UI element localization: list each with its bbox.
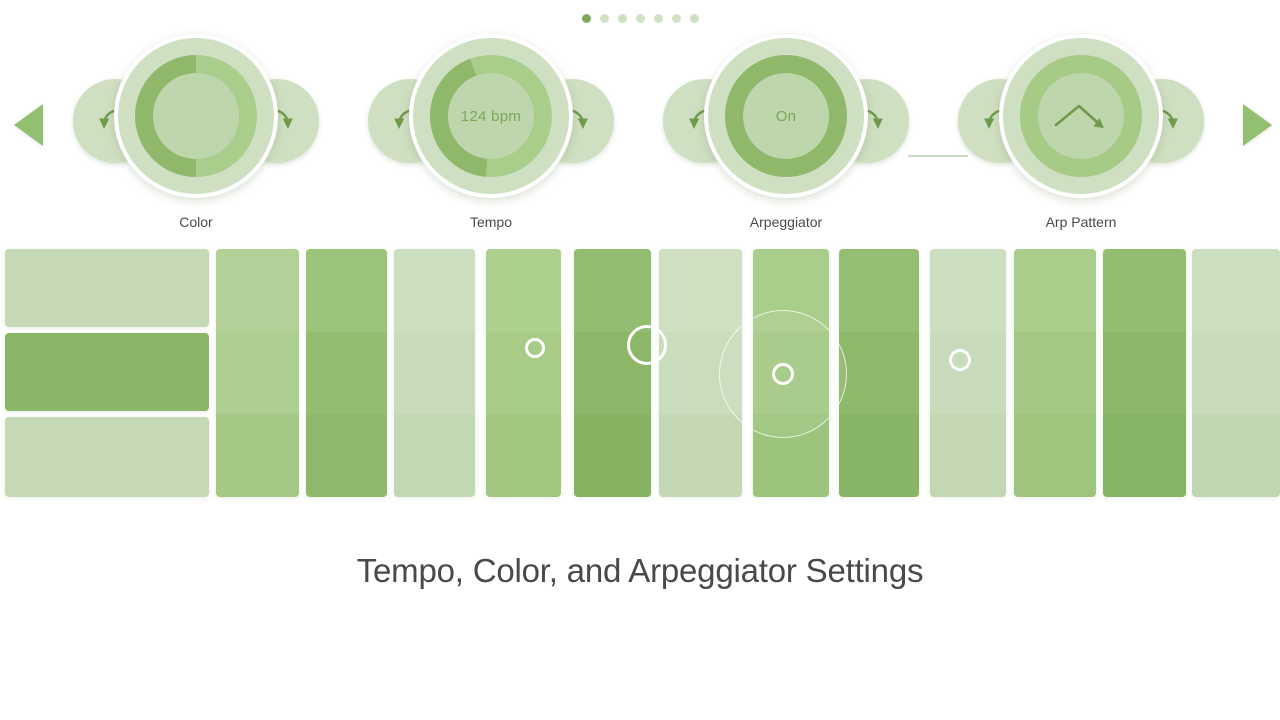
knob-label: Arp Pattern: [956, 214, 1206, 230]
knob-ring: 124 bpm: [430, 55, 552, 177]
color-strip-segment[interactable]: [486, 249, 561, 332]
color-strip-segment[interactable]: [574, 249, 651, 332]
color-strip[interactable]: [394, 249, 475, 497]
color-strip[interactable]: [930, 249, 1006, 497]
color-strip-segment[interactable]: [1014, 414, 1096, 497]
color-strip-segment[interactable]: [753, 414, 829, 497]
color-strip-segment[interactable]: [839, 414, 919, 497]
page-dot[interactable]: [636, 14, 645, 23]
color-strip-segment[interactable]: [306, 332, 387, 415]
knob-group-tempo: 124 bpmTempo: [366, 32, 616, 237]
color-strip-segment[interactable]: [216, 414, 299, 497]
color-strip-segment[interactable]: [659, 249, 742, 332]
knob-dial[interactable]: [999, 34, 1163, 198]
color-strip[interactable]: [839, 249, 919, 497]
bar-panel-row[interactable]: [5, 249, 209, 327]
color-strip[interactable]: [753, 249, 829, 497]
knob-dial[interactable]: 124 bpm: [409, 34, 573, 198]
knob-group-arp-pattern: Arp Pattern: [956, 32, 1206, 237]
color-strip[interactable]: [216, 249, 299, 497]
knob-ring: On: [725, 55, 847, 177]
color-strip-segment[interactable]: [930, 414, 1006, 497]
color-strip-segment[interactable]: [659, 414, 742, 497]
color-strip-segment[interactable]: [1192, 414, 1280, 497]
color-strip-segment[interactable]: [1103, 249, 1186, 332]
color-strip-segment[interactable]: [486, 332, 561, 415]
color-strip[interactable]: [486, 249, 561, 497]
color-strip-segment[interactable]: [1192, 332, 1280, 415]
knob-dial[interactable]: [114, 34, 278, 198]
color-strip-segment[interactable]: [1014, 249, 1096, 332]
color-strip-segment[interactable]: [753, 332, 829, 415]
color-strip-segment[interactable]: [1103, 414, 1186, 497]
knob-value: On: [776, 108, 797, 125]
color-strip-segment[interactable]: [839, 249, 919, 332]
knob-core: 124 bpm: [448, 73, 534, 159]
knob-group-arpeggiator: OnArpeggiator: [661, 32, 911, 237]
knob-label: Tempo: [366, 214, 616, 230]
color-strip-segment[interactable]: [216, 249, 299, 332]
knob-value: 124 bpm: [461, 108, 521, 125]
color-strip-segment[interactable]: [216, 332, 299, 415]
knob-dial[interactable]: On: [704, 34, 868, 198]
color-strip-segment[interactable]: [659, 332, 742, 415]
color-strip-segment[interactable]: [306, 249, 387, 332]
page-dot[interactable]: [582, 14, 591, 23]
knob-ring: [1020, 55, 1142, 177]
color-strip[interactable]: [1192, 249, 1280, 497]
knob-stage: On: [661, 32, 911, 216]
color-strip-segment[interactable]: [1103, 332, 1186, 415]
knob-core: [153, 73, 239, 159]
page-dot[interactable]: [618, 14, 627, 23]
page-dot[interactable]: [672, 14, 681, 23]
bar-panel[interactable]: [5, 249, 209, 497]
knob-stage: 124 bpm: [366, 32, 616, 216]
color-strip[interactable]: [574, 249, 651, 497]
page-title: Tempo, Color, and Arpeggiator Settings: [0, 552, 1280, 590]
bar-panel-row[interactable]: [5, 333, 209, 411]
knob-row: Color124 bpmTempoOnArpeggiatorArp Patter…: [0, 32, 1280, 237]
knob-stage: [71, 32, 321, 216]
knob-core: On: [743, 73, 829, 159]
knob-ring: [135, 55, 257, 177]
page-indicator[interactable]: [0, 14, 1280, 23]
color-strip-segment[interactable]: [574, 332, 651, 415]
color-strip-segment[interactable]: [1014, 332, 1096, 415]
knob-group-color: Color: [71, 32, 321, 237]
color-strip-grid[interactable]: [0, 249, 1280, 497]
color-strip-segment[interactable]: [839, 332, 919, 415]
bar-panel-row[interactable]: [5, 417, 209, 497]
color-strip[interactable]: [306, 249, 387, 497]
page-dot[interactable]: [690, 14, 699, 23]
color-strip-segment[interactable]: [753, 249, 829, 332]
color-strip-segment[interactable]: [394, 332, 475, 415]
color-strip[interactable]: [659, 249, 742, 497]
color-strip-segment[interactable]: [574, 414, 651, 497]
page-dot[interactable]: [654, 14, 663, 23]
color-strip-segment[interactable]: [486, 414, 561, 497]
color-strip[interactable]: [1103, 249, 1186, 497]
color-strip-segment[interactable]: [394, 249, 475, 332]
page-dot[interactable]: [600, 14, 609, 23]
knob-label: Color: [71, 214, 321, 230]
knob-stage: [956, 32, 1206, 216]
knob-label: Arpeggiator: [661, 214, 911, 230]
color-strip-segment[interactable]: [1192, 249, 1280, 332]
arp-updown-arrow-icon: [1038, 73, 1124, 159]
color-strip-segment[interactable]: [930, 332, 1006, 415]
color-strip-segment[interactable]: [306, 414, 387, 497]
color-strip[interactable]: [1014, 249, 1096, 497]
color-strip-segment[interactable]: [930, 249, 1006, 332]
color-strip-segment[interactable]: [394, 414, 475, 497]
